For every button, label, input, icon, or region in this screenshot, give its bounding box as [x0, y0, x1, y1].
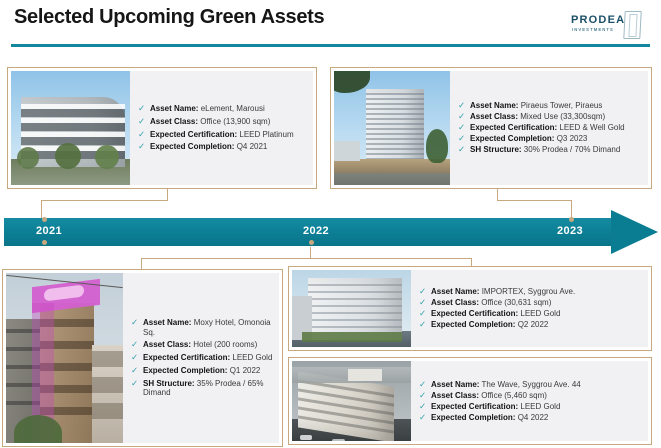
detail-row: ✓ Asset Name: Piraeus Tower, Piraeus: [458, 101, 642, 111]
detail-value: Q4 2021: [237, 142, 268, 151]
timeline: 2021 2022 2023: [4, 214, 657, 250]
detail-label: Expected Certification:: [431, 402, 518, 411]
photo-greenery: [302, 332, 402, 342]
detail-label: Asset Name:: [431, 287, 479, 296]
detail-row: ✓ Expected Certification: LEED Gold: [419, 309, 642, 319]
connector-line: [310, 258, 471, 259]
asset-photo: [292, 361, 411, 441]
detail-value: 30% Prodea / 70% Dimand: [524, 145, 621, 154]
timeline-year-2023[interactable]: 2023: [557, 225, 583, 237]
asset-details: ✓ Asset Name: IMPORTEX, Syggrou Ave. ✓ A…: [411, 270, 648, 347]
detail-row: ✓ Asset Name: Moxy Hotel, Omonoia Sq.: [131, 318, 273, 338]
detail-value: Piraeus Tower, Piraeus: [521, 101, 603, 110]
detail-row: ✓ Expected Certification: LEED Gold: [131, 353, 273, 363]
detail-row: ✓ Expected Completion: Q1 2022: [131, 366, 273, 376]
detail-label: Asset Name:: [431, 380, 479, 389]
detail-row: ✓ Expected Certification: LEED & Well Go…: [458, 123, 642, 133]
check-icon: ✓: [419, 309, 428, 319]
connector-line: [141, 258, 311, 259]
timeline-year-2021[interactable]: 2021: [36, 225, 62, 237]
detail-label: Expected Certification:: [431, 309, 518, 318]
logo-wordmark: PRODEA: [571, 14, 625, 26]
asset-details: ✓ Asset Name: Piraeus Tower, Piraeus ✓ A…: [450, 71, 648, 185]
detail-label: Asset Class:: [150, 117, 198, 126]
check-icon: ✓: [419, 391, 428, 401]
check-icon: ✓: [138, 104, 147, 114]
asset-photo: [292, 270, 411, 347]
check-icon: ✓: [131, 318, 140, 328]
check-icon: ✓: [419, 402, 428, 412]
check-icon: ✓: [131, 353, 140, 363]
detail-row: ✓ Expected Certification: LEED Gold: [419, 402, 642, 412]
detail-row: ✓ Asset Class: Office (13,900 sqm): [138, 117, 307, 127]
check-icon: ✓: [138, 142, 147, 152]
check-icon: ✓: [458, 101, 467, 111]
check-icon: ✓: [419, 287, 428, 297]
detail-row: ✓ Asset Name: IMPORTEX, Syggrou Ave.: [419, 287, 642, 297]
detail-label: SH Structure:: [143, 379, 195, 388]
page-title: Selected Upcoming Green Assets: [14, 6, 324, 29]
detail-label: Expected Certification:: [150, 130, 237, 139]
detail-label: Expected Certification:: [470, 123, 557, 132]
connector-line: [41, 200, 168, 201]
header-divider: [11, 44, 650, 47]
detail-row: ✓ Asset Class: Hotel (200 rooms): [131, 340, 273, 350]
timeline-arrow-head: [611, 210, 658, 254]
detail-row: ✓ Expected Completion: Q4 2021: [138, 142, 307, 152]
asset-card-piraeus-tower[interactable]: ✓ Asset Name: Piraeus Tower, Piraeus ✓ A…: [330, 67, 652, 189]
detail-value: eLement, Marousi: [201, 104, 265, 113]
check-icon: ✓: [458, 112, 467, 122]
detail-label: Asset Class:: [431, 391, 479, 400]
detail-label: Asset Name:: [470, 101, 518, 110]
detail-value: Office (13,900 sqm): [200, 117, 270, 126]
detail-value: Q3 2023: [557, 134, 588, 143]
check-icon: ✓: [419, 380, 428, 390]
detail-value: Office (5,460 sqm): [481, 391, 547, 400]
check-icon: ✓: [131, 379, 140, 389]
asset-details: ✓ Asset Name: eLement, Marousi ✓ Asset C…: [130, 71, 313, 185]
photo-office-building: [308, 278, 402, 340]
detail-label: Asset Name:: [150, 104, 198, 113]
detail-label: Expected Completion:: [143, 366, 227, 375]
detail-value: Mixed Use (33,300sqm): [520, 112, 605, 121]
detail-label: Expected Completion:: [431, 413, 515, 422]
photo-tree: [95, 145, 119, 169]
detail-row: ✓ Asset Name: eLement, Marousi: [138, 104, 307, 114]
check-icon: ✓: [458, 134, 467, 144]
check-icon: ✓: [419, 298, 428, 308]
asset-card-moxy-hotel[interactable]: ✓ Asset Name: Moxy Hotel, Omonoia Sq. ✓ …: [2, 269, 283, 447]
detail-label: Expected Completion:: [150, 142, 234, 151]
asset-details: ✓ Asset Name: Moxy Hotel, Omonoia Sq. ✓ …: [123, 273, 279, 443]
detail-row: ✓ Asset Class: Office (5,460 sqm): [419, 391, 642, 401]
detail-row: ✓ Asset Name: The Wave, Syggrou Ave. 44: [419, 380, 642, 390]
photo-classical-building: [92, 345, 123, 443]
asset-card-element-marousi[interactable]: ✓ Asset Name: eLement, Marousi ✓ Asset C…: [7, 67, 317, 189]
photo-rooftop-block: [348, 369, 382, 381]
photo-tree: [426, 129, 448, 163]
detail-row: ✓ Expected Completion: Q3 2023: [458, 134, 642, 144]
asset-photo: [11, 71, 130, 185]
detail-value: Q1 2022: [230, 366, 261, 375]
photo-lowrise: [334, 141, 360, 161]
detail-label: Expected Completion:: [431, 320, 515, 329]
detail-value: LEED Gold: [520, 402, 560, 411]
timeline-year-2022[interactable]: 2022: [303, 225, 329, 237]
check-icon: ✓: [131, 340, 140, 350]
detail-label: Asset Class:: [431, 298, 479, 307]
timeline-node-2023: [569, 217, 574, 222]
detail-row: ✓ Expected Certification: LEED Platinum: [138, 130, 307, 140]
asset-photo: [334, 71, 450, 185]
detail-label: Asset Name:: [143, 318, 191, 327]
asset-card-the-wave[interactable]: ✓ Asset Name: The Wave, Syggrou Ave. 44 …: [288, 357, 652, 445]
detail-value: LEED Gold: [520, 309, 560, 318]
detail-label: SH Structure:: [470, 145, 522, 154]
detail-row: ✓ Asset Class: Office (30,631 sqm): [419, 298, 642, 308]
detail-label: Expected Completion:: [470, 134, 554, 143]
asset-details: ✓ Asset Name: The Wave, Syggrou Ave. 44 …: [411, 361, 648, 441]
timeline-node-2021: [42, 240, 47, 245]
check-icon: ✓: [419, 413, 428, 423]
detail-row: ✓ Expected Completion: Q4 2022: [419, 413, 642, 423]
detail-label: Expected Certification:: [143, 353, 230, 362]
check-icon: ✓: [458, 145, 467, 155]
check-icon: ✓: [131, 366, 140, 376]
connector-line: [471, 258, 472, 266]
timeline-node-2021: [42, 217, 47, 222]
check-icon: ✓: [458, 123, 467, 133]
door-icon: [623, 11, 641, 39]
asset-card-importex[interactable]: ✓ Asset Name: IMPORTEX, Syggrou Ave. ✓ A…: [288, 266, 652, 351]
asset-photo: [6, 273, 123, 443]
connector-line: [497, 200, 571, 201]
detail-row: ✓ Asset Class: Mixed Use (33,300sqm): [458, 112, 642, 122]
detail-label: Asset Class:: [470, 112, 518, 121]
detail-value: Q4 2022: [518, 413, 549, 422]
check-icon: ✓: [138, 130, 147, 140]
photo-tree: [17, 147, 39, 169]
detail-row: ✓ SH Structure: 35% Prodea / 65% Dimand: [131, 379, 273, 399]
detail-label: Asset Class:: [143, 340, 191, 349]
detail-value: LEED Gold: [232, 353, 272, 362]
logo-tagline: INVESTMENTS: [572, 27, 614, 32]
detail-value: LEED & Well Gold: [559, 123, 624, 132]
detail-value: The Wave, Syggrou Ave. 44: [482, 380, 581, 389]
detail-row: ✓ Expected Completion: Q2 2022: [419, 320, 642, 330]
detail-value: Q2 2022: [518, 320, 549, 329]
check-icon: ✓: [138, 117, 147, 127]
check-icon: ✓: [419, 320, 428, 330]
detail-value: LEED Platinum: [239, 130, 293, 139]
photo-tree: [55, 143, 81, 169]
photo-car: [332, 439, 345, 441]
detail-value: Hotel (200 rooms): [193, 340, 257, 349]
photo-tree: [14, 415, 62, 443]
prodea-logo: PRODEA INVESTMENTS: [571, 12, 649, 40]
timeline-node-2022: [309, 240, 314, 245]
detail-row: ✓ SH Structure: 30% Prodea / 70% Dimand: [458, 145, 642, 155]
detail-value: IMPORTEX, Syggrou Ave.: [482, 287, 576, 296]
photo-car: [300, 435, 312, 440]
detail-value: Office (30,631 sqm): [481, 298, 551, 307]
